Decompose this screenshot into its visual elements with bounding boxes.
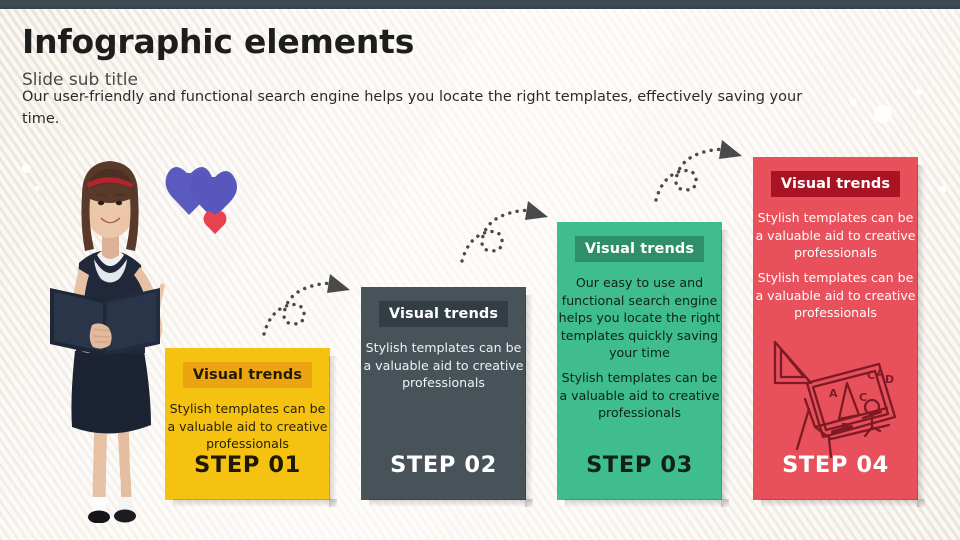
card-paragraph-04-2: Stylish templates can be a valuable aid … bbox=[753, 269, 918, 322]
dot-3 bbox=[850, 99, 857, 106]
card-header-04: Visual trends bbox=[771, 171, 900, 197]
card-paragraph-03-1: Our easy to use and functional search en… bbox=[557, 274, 722, 362]
dot-6 bbox=[939, 186, 946, 193]
dot-1 bbox=[22, 164, 31, 173]
step-card-03[interactable]: Visual trends Our easy to use and functi… bbox=[557, 222, 722, 500]
card-body: Visual trends Stylish templates can be a… bbox=[361, 287, 526, 500]
card-shadow-bottom bbox=[173, 499, 337, 507]
card-paragraph-03-2: Stylish templates can be a valuable aid … bbox=[557, 369, 722, 422]
card-body: Visual trends Our easy to use and functi… bbox=[557, 222, 722, 500]
card-paragraph-01-1: Stylish templates can be a valuable aid … bbox=[165, 400, 330, 453]
card-shadow bbox=[721, 230, 729, 507]
chalkboard-easel-doodle: A C B C A D bbox=[771, 339, 899, 461]
svg-text:D: D bbox=[885, 373, 894, 386]
card-body: Visual trends Stylish templates can be a… bbox=[165, 348, 330, 500]
step-label-04: STEP 04 bbox=[753, 452, 918, 478]
card-header-03: Visual trends bbox=[575, 236, 704, 262]
double-heart-illustration bbox=[163, 163, 245, 241]
svg-text:A: A bbox=[876, 367, 885, 380]
card-body: Visual trends Stylish templates can be a… bbox=[753, 157, 918, 500]
slide-top-bar bbox=[0, 0, 960, 9]
dotted-loop-arrow-1 bbox=[258, 272, 362, 338]
schoolgirl-reading-book-photo bbox=[48, 145, 173, 523]
dot-4 bbox=[874, 105, 892, 123]
card-shadow bbox=[525, 295, 533, 507]
card-shadow-bottom bbox=[369, 499, 533, 507]
card-paragraph-04-1: Stylish templates can be a valuable aid … bbox=[753, 209, 918, 262]
svg-text:C: C bbox=[867, 369, 875, 382]
card-header-02: Visual trends bbox=[379, 301, 508, 327]
dotted-loop-arrow-2 bbox=[456, 199, 560, 265]
card-shadow bbox=[329, 356, 337, 507]
card-paragraph-02-1: Stylish templates can be a valuable aid … bbox=[361, 339, 526, 392]
card-shadow-bottom bbox=[761, 499, 925, 507]
slide-canvas: Infographic elements Slide sub title Our… bbox=[0, 0, 960, 540]
page-title: Infographic elements bbox=[22, 22, 414, 61]
svg-text:B: B bbox=[841, 421, 849, 434]
step-label-02: STEP 02 bbox=[361, 452, 526, 478]
card-header-01: Visual trends bbox=[183, 362, 312, 388]
page-lead-text: Our user-friendly and functional search … bbox=[22, 86, 812, 130]
svg-text:A: A bbox=[829, 387, 838, 400]
step-card-01[interactable]: Visual trends Stylish templates can be a… bbox=[165, 348, 330, 500]
dot-2 bbox=[34, 186, 39, 191]
dot-5 bbox=[916, 89, 922, 95]
card-shadow-bottom bbox=[565, 499, 729, 507]
svg-text:C: C bbox=[859, 391, 867, 404]
step-card-02[interactable]: Visual trends Stylish templates can be a… bbox=[361, 287, 526, 500]
step-label-03: STEP 03 bbox=[557, 452, 722, 478]
step-card-04[interactable]: Visual trends Stylish templates can be a… bbox=[753, 157, 918, 500]
step-label-01: STEP 01 bbox=[165, 452, 330, 478]
card-shadow bbox=[917, 165, 925, 507]
dotted-loop-arrow-3 bbox=[650, 138, 754, 204]
